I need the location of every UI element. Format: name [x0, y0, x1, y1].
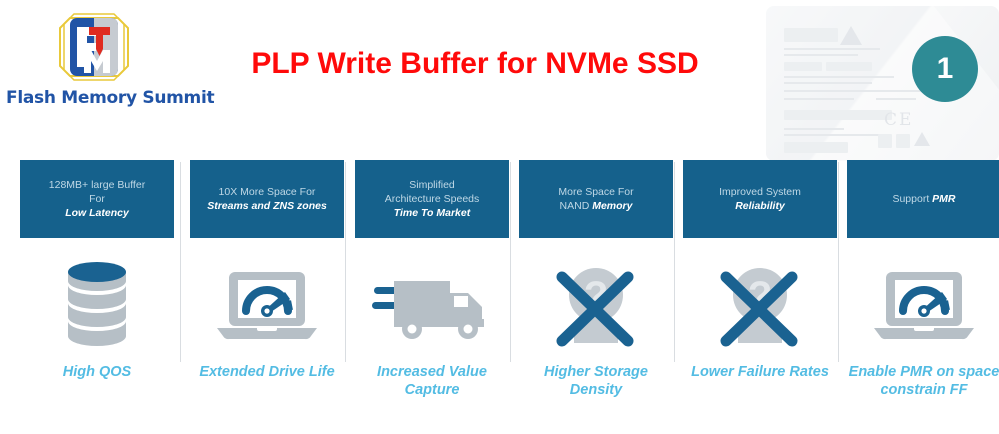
column-divider	[180, 162, 181, 362]
column-divider	[674, 162, 675, 362]
database-stack-icon	[20, 252, 174, 357]
benefit-column-6: Support PMR Enable PMR on space constrai…	[847, 160, 999, 399]
benefit-chip-line: Architecture Speeds	[385, 193, 480, 205]
benefit-column-3: Simplified Architecture Speeds Time To M…	[355, 160, 509, 399]
column-divider	[345, 162, 346, 362]
laptop-speedometer-icon	[847, 252, 999, 357]
benefit-caption-1: High QOS	[20, 363, 174, 381]
benefit-chip-emphasis: Time To Market	[385, 206, 480, 220]
benefit-chip-line: Improved System	[719, 186, 801, 198]
benefit-column-1: 128MB+ large Buffer For Low Latency	[20, 160, 174, 381]
benefit-chip-emphasis: Memory	[592, 200, 632, 212]
benefit-chip-emphasis: Streams and ZNS zones	[207, 199, 327, 213]
laptop-speedometer-icon	[190, 252, 344, 357]
benefit-chip-1: 128MB+ large Buffer For Low Latency	[20, 160, 174, 238]
benefit-chip-emphasis: PMR	[932, 193, 955, 205]
benefit-chip-line: 10X More Space For	[219, 186, 316, 198]
benefit-chip-line: Support	[892, 193, 932, 205]
question-person-crossed-out-icon: ?	[683, 252, 837, 357]
benefit-caption-2: Extended Drive Life	[190, 363, 344, 381]
benefit-caption-6: Enable PMR on space constrain FF	[847, 363, 999, 399]
benefit-caption-5: Lower Failure Rates	[683, 363, 837, 381]
column-divider	[510, 162, 511, 362]
benefit-chip-5: Improved System Reliability	[683, 160, 837, 238]
benefit-column-5: Improved System Reliability ? Lower Fail…	[683, 160, 837, 381]
benefit-chip-3: Simplified Architecture Speeds Time To M…	[355, 160, 509, 238]
benefit-chip-line: NAND	[560, 200, 593, 212]
benefit-chip-emphasis: Reliability	[719, 199, 801, 213]
benefit-chip-6: Support PMR	[847, 160, 999, 238]
benefit-chip-4: More Space For NAND Memory	[519, 160, 673, 238]
benefit-chip-line: 128MB+ large Buffer	[49, 179, 145, 191]
benefit-caption-4: Higher Storage Density	[519, 363, 673, 399]
benefit-chip-line: For	[89, 193, 105, 205]
benefit-chip-line: Simplified	[409, 179, 455, 191]
benefit-chip-2: 10X More Space For Streams and ZNS zones	[190, 160, 344, 238]
benefit-column-4: More Space For NAND Memory ? Higher Stor…	[519, 160, 673, 399]
benefit-chip-line: More Space For	[558, 186, 633, 198]
column-divider	[838, 162, 839, 362]
benefit-caption-3: Increased Value Capture	[355, 363, 509, 399]
delivery-truck-icon	[355, 252, 509, 357]
benefit-columns: 128MB+ large Buffer For Low Latency	[0, 0, 999, 434]
benefit-chip-emphasis: Low Latency	[49, 206, 145, 220]
question-person-crossed-out-icon: ?	[519, 252, 673, 357]
benefit-column-2: 10X More Space For Streams and ZNS zones…	[190, 160, 344, 381]
